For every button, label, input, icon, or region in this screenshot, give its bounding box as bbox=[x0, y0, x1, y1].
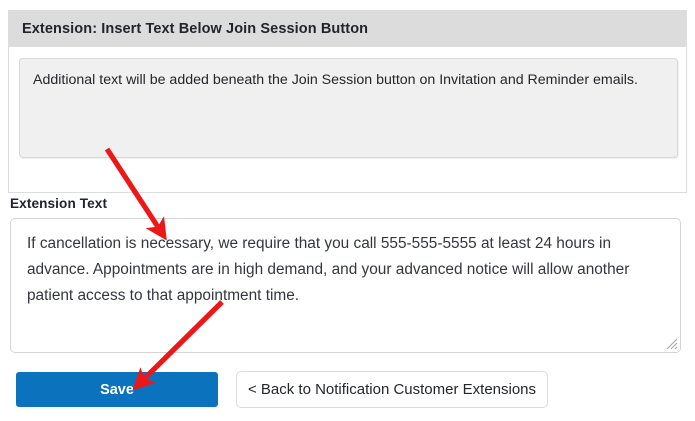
extension-panel: Extension: Insert Text Below Join Sessio… bbox=[8, 10, 687, 193]
panel-body: Additional text will be added beneath th… bbox=[9, 47, 686, 158]
extension-text-label: Extension Text bbox=[10, 196, 107, 211]
extension-text-input[interactable] bbox=[10, 218, 681, 353]
panel-title: Extension: Insert Text Below Join Sessio… bbox=[22, 21, 368, 37]
back-to-notification-customer-extensions-button[interactable]: < Back to Notification Customer Extensio… bbox=[236, 371, 548, 408]
panel-header: Extension: Insert Text Below Join Sessio… bbox=[9, 11, 686, 47]
info-box: Additional text will be added beneath th… bbox=[19, 58, 678, 158]
extension-settings-page: Extension: Insert Text Below Join Sessio… bbox=[0, 0, 695, 421]
info-box-text: Additional text will be added beneath th… bbox=[33, 72, 638, 88]
save-button[interactable]: Save bbox=[16, 372, 218, 407]
